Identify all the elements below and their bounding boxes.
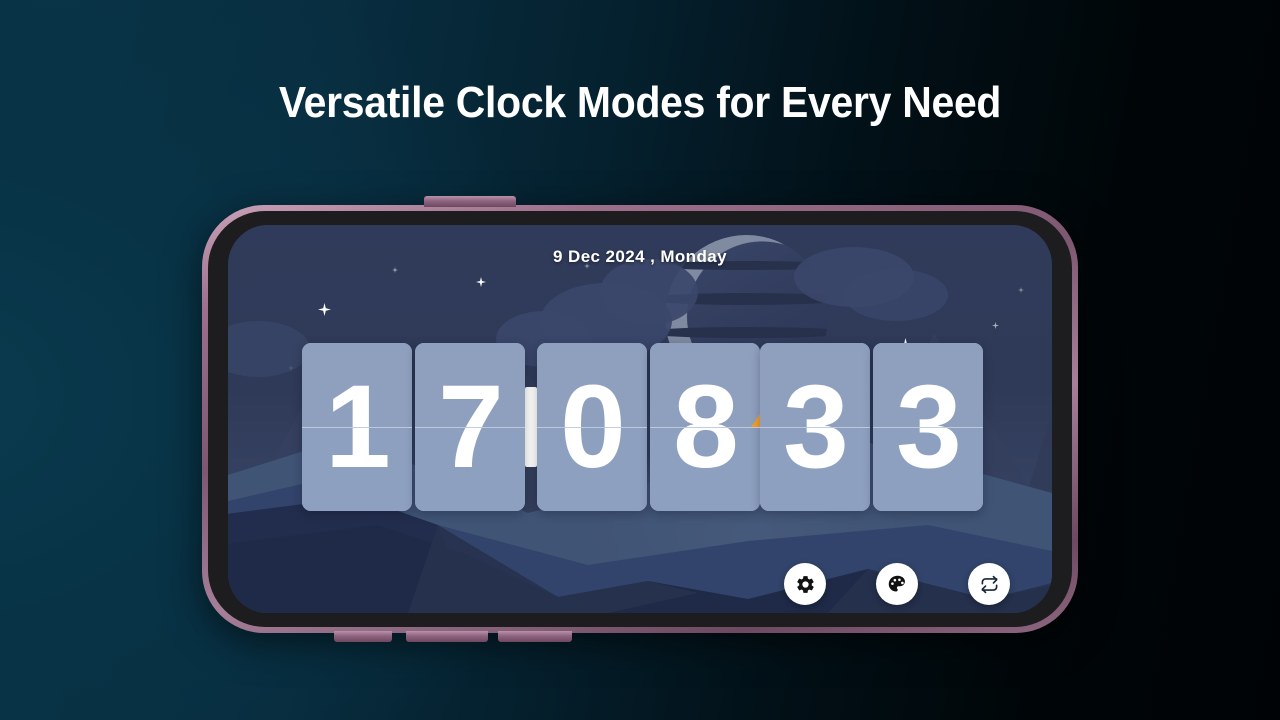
action-button-bar xyxy=(784,563,1010,605)
flip-card-hinge xyxy=(650,427,760,428)
gear-icon xyxy=(795,574,816,595)
flip-group-seconds: 3 3 xyxy=(760,343,983,511)
volume-down-button[interactable] xyxy=(334,631,392,642)
flip-card: 3 xyxy=(760,343,870,511)
date-label: 9 Dec 2024 , Monday xyxy=(228,247,1052,267)
theme-button[interactable] xyxy=(876,563,918,605)
flip-card-hinge xyxy=(873,427,983,428)
flip-card: 0 xyxy=(537,343,647,511)
settings-button[interactable] xyxy=(784,563,826,605)
mode-button[interactable] xyxy=(968,563,1010,605)
flip-group-hours: 1 7 xyxy=(302,343,525,511)
flip-group-minutes: 0 8 xyxy=(537,343,760,511)
repeat-icon xyxy=(980,575,999,594)
action-button[interactable] xyxy=(498,631,572,642)
flip-card-hinge xyxy=(302,427,412,428)
flip-card: 1 xyxy=(302,343,412,511)
flip-card-hinge xyxy=(537,427,647,428)
clock-separator-colon xyxy=(525,343,537,511)
power-button[interactable] xyxy=(424,196,516,207)
flip-card-hinge xyxy=(415,427,525,428)
phone-screen[interactable]: 9 Dec 2024 , Monday 1 7 xyxy=(228,225,1052,613)
flip-card: 3 xyxy=(873,343,983,511)
page-title: Versatile Clock Modes for Every Need xyxy=(45,78,1235,128)
flip-card: 8 xyxy=(650,343,760,511)
flip-card-hinge xyxy=(760,427,870,428)
flip-clock[interactable]: 1 7 0 xyxy=(302,343,982,511)
flip-card: 7 xyxy=(415,343,525,511)
promo-slide: Versatile Clock Modes for Every Need xyxy=(0,0,1280,720)
volume-up-button[interactable] xyxy=(406,631,488,642)
palette-icon xyxy=(887,574,908,595)
phone-mockup: 9 Dec 2024 , Monday 1 7 xyxy=(202,205,1078,633)
